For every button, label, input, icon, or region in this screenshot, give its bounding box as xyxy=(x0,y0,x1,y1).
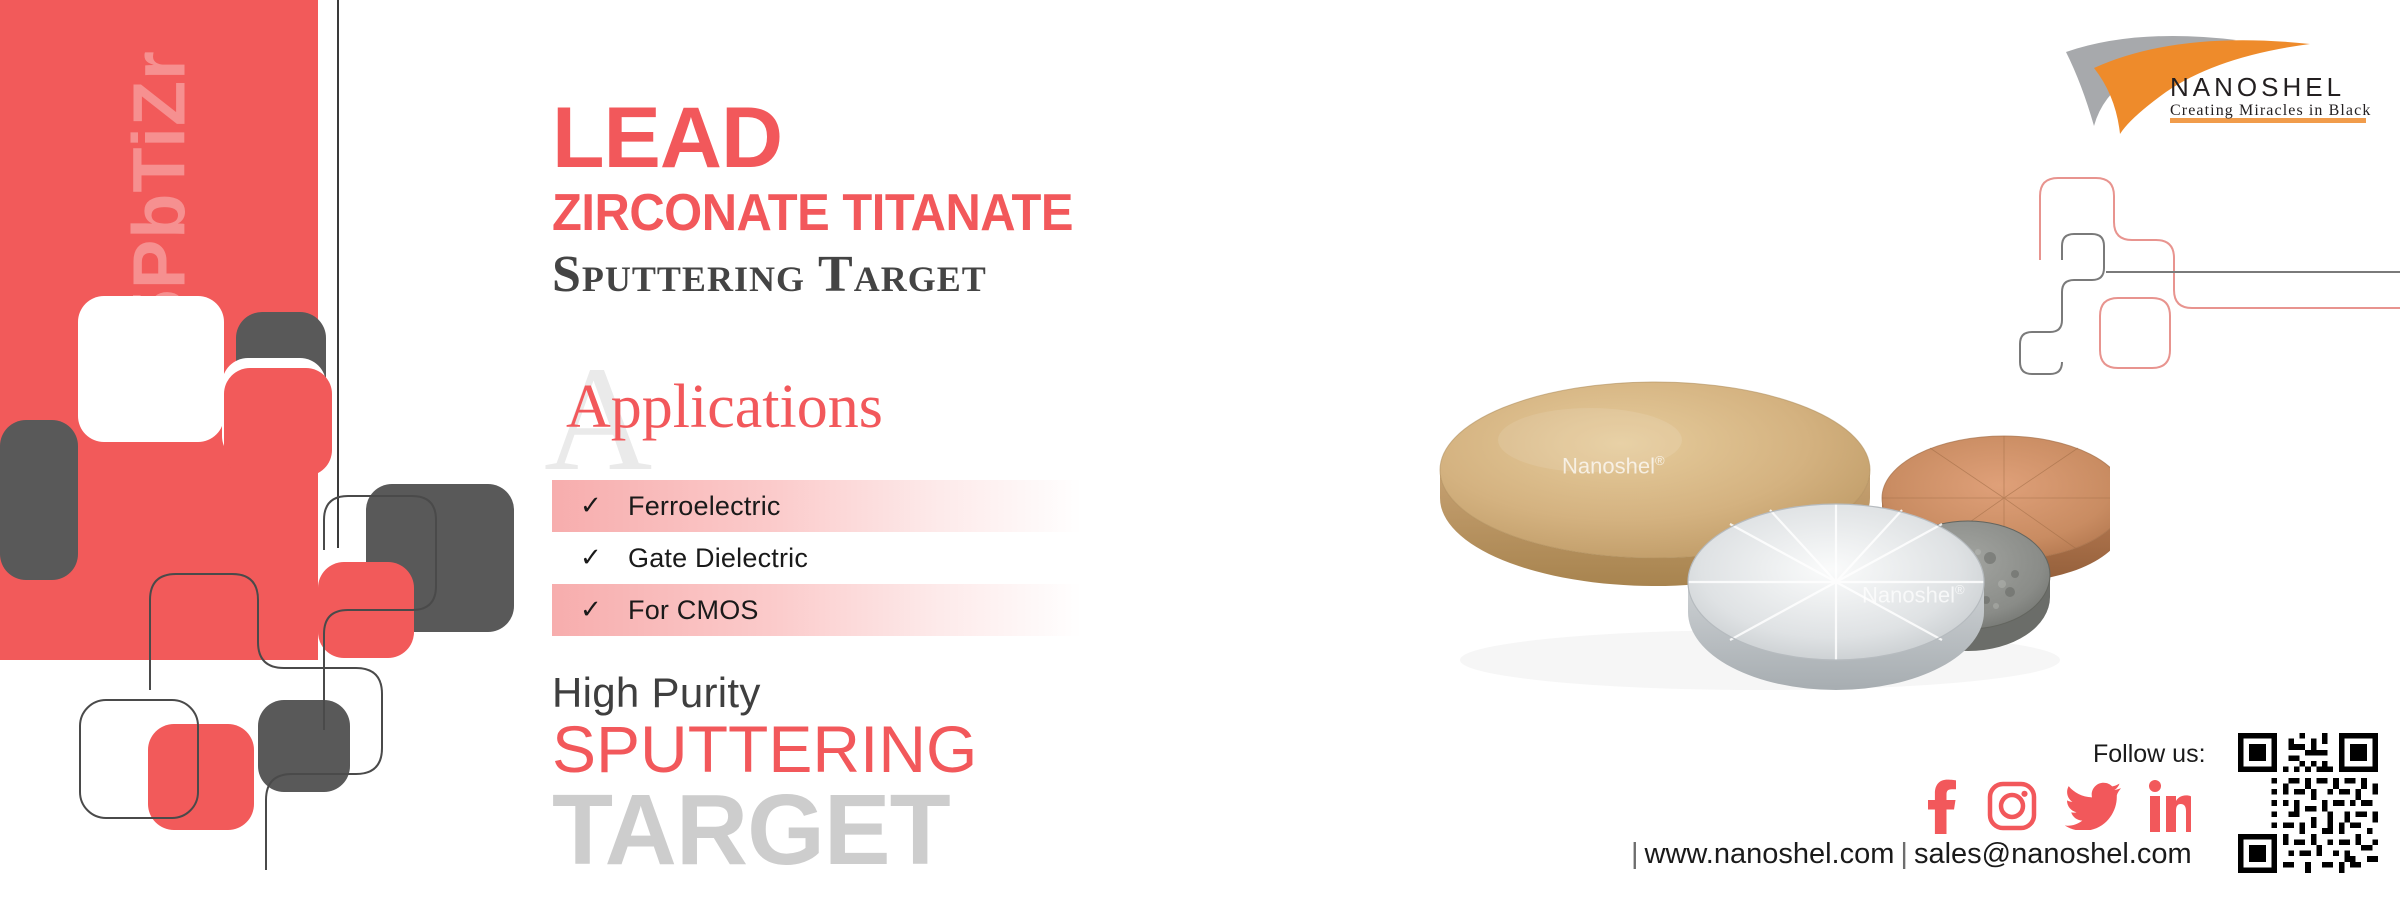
decor-square-grey-2 xyxy=(0,420,78,580)
list-item: ✓ Gate Dielectric xyxy=(552,532,1082,584)
sputtering-targets-illustration xyxy=(1430,360,2110,710)
linkedin-icon[interactable] xyxy=(2149,780,2191,837)
title-line-zirconate: ZIRCONATE TITANATE xyxy=(552,184,1073,242)
social-links xyxy=(1925,778,2191,839)
nanoshel-logo: NANOSHEL Creating Miracles in Black xyxy=(2058,22,2378,134)
list-item-label: Gate Dielectric xyxy=(628,543,808,574)
applications-section: A Applications ✓ Ferroelectric ✓ Gate Di… xyxy=(552,372,1192,636)
vertical-hairline xyxy=(337,0,339,548)
decor-square-coral-2 xyxy=(318,562,414,658)
decor-square-coral-3 xyxy=(148,724,254,830)
title-line-sputtering-target: Sputtering Target xyxy=(552,246,1106,303)
applications-heading-group: A Applications xyxy=(552,372,1192,458)
decor-square-white-1 xyxy=(78,296,224,442)
bottom-headline-high-purity: High Purity xyxy=(552,672,977,714)
bottom-headline-target: TARGET xyxy=(552,780,977,880)
aluminum-target-disc xyxy=(1688,504,1984,690)
poster-title: LEAD ZIRCONATE TITANATE Sputtering Targe… xyxy=(552,98,1106,303)
website-link[interactable]: www.nanoshel.com xyxy=(1645,838,1895,870)
instagram-icon[interactable] xyxy=(1987,781,2037,836)
product-image: Nanoshel® Nanoshel® xyxy=(1430,360,2110,710)
qr-code[interactable] xyxy=(2222,733,2394,873)
check-icon: ✓ xyxy=(580,545,628,571)
contact-line: |www.nanoshel.com|sales@nanoshel.com xyxy=(1625,838,2192,871)
decor-square-grey-4 xyxy=(258,700,350,792)
list-item: ✓ For CMOS xyxy=(552,584,1082,636)
list-item-label: For CMOS xyxy=(628,595,759,626)
decor-square-coral-1 xyxy=(224,368,332,476)
facebook-icon[interactable] xyxy=(1925,778,1959,839)
applications-heading: Applications xyxy=(566,376,883,438)
applications-list: ✓ Ferroelectric ✓ Gate Dielectric ✓ For … xyxy=(552,480,1192,636)
bottom-headline-sputtering: SPUTTERING xyxy=(552,716,977,782)
logo-wordmark: NANOSHEL xyxy=(2170,72,2345,103)
title-line-lead: LEAD xyxy=(552,98,1106,180)
twitter-icon[interactable] xyxy=(2065,782,2121,835)
poster-canvas: O5PbTiZr LEAD ZIRCONATE TITANATE Sputter… xyxy=(0,0,2400,900)
contact-bar-mid: | xyxy=(1894,838,1914,870)
email-link[interactable]: sales@nanoshel.com xyxy=(1914,838,2192,870)
bottom-headline: High Purity SPUTTERING TARGET xyxy=(552,672,977,880)
check-icon: ✓ xyxy=(580,597,628,623)
contact-bar-left: | xyxy=(1625,838,1645,870)
logo-tagline: Creating Miracles in Black xyxy=(2170,102,2371,120)
follow-us-label: Follow us: xyxy=(2093,740,2206,769)
